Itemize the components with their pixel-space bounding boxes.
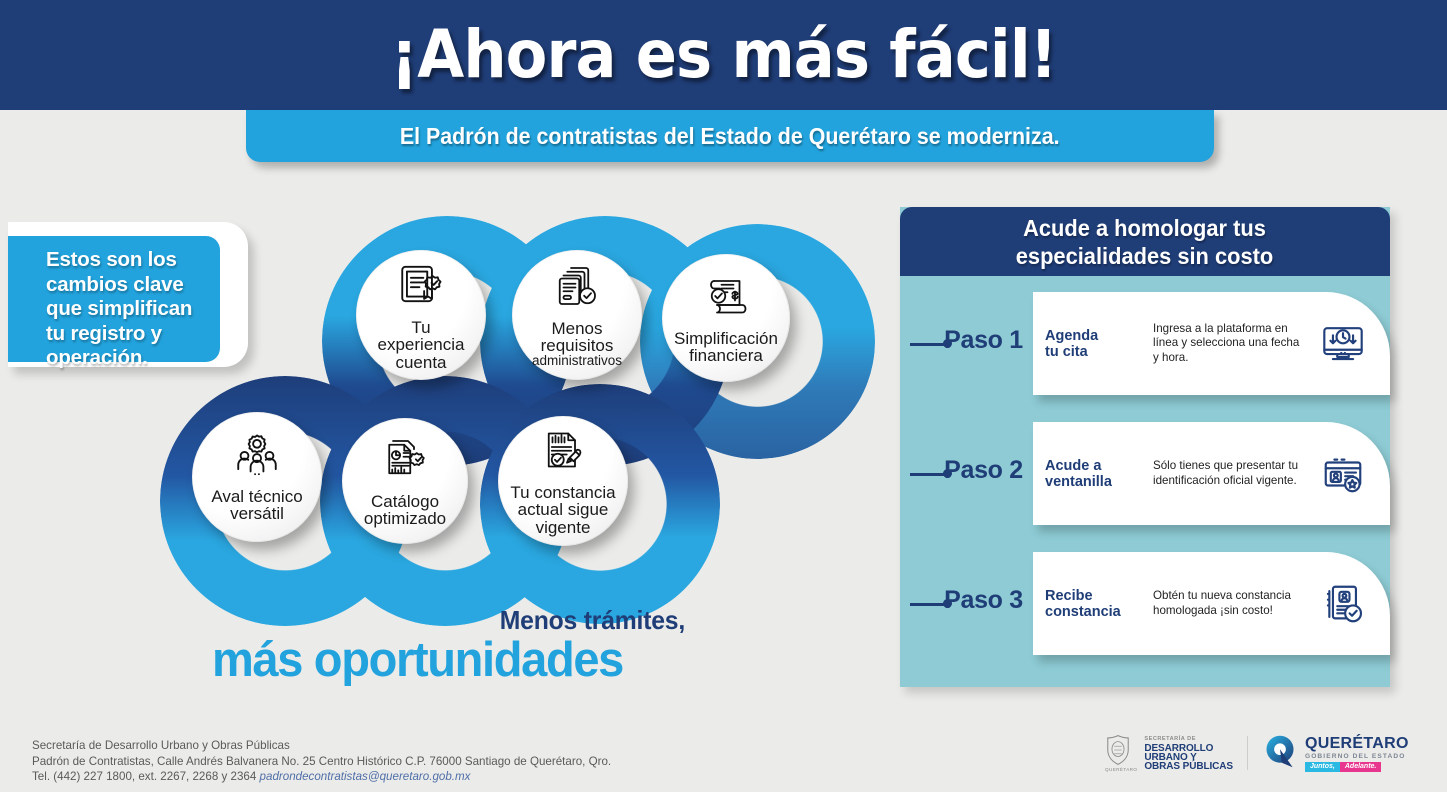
stacked-documents-check-icon [553, 262, 601, 315]
invoice-dollar-check-icon [702, 272, 750, 325]
step-card-3[interactable]: Recibe constancia Obtén tu nueva constan… [1033, 552, 1390, 655]
infographic-canvas: ¡Ahora es más fácil! El Padrón de contra… [0, 0, 1447, 792]
shield-caption: QUERÉTARO [1105, 767, 1137, 772]
benefit-label: Menos requisitos administrativos [532, 320, 622, 368]
benefit-bubble-constancia[interactable]: Tu constancia actual sigue vigente [498, 416, 628, 546]
benefit-bubble-experiencia[interactable]: Tu experiencia cuenta [356, 250, 486, 380]
benefit-bubble-catalogo[interactable]: Catálogo optimizado [342, 418, 468, 544]
queretaro-badges: Juntos, Adelante. [1305, 762, 1409, 772]
footer-contact: Secretaría de Desarrollo Urbano y Obras … [32, 738, 611, 785]
badge-adelante: Adelante. [1340, 762, 1382, 772]
sduop-wordmark: SECRETARÍA DE DESARROLLO URBANO Y OBRAS … [1144, 735, 1233, 772]
benefit-label: Tu experiencia cuenta [378, 319, 465, 371]
footer-line-3: Tel. (442) 227 1800, ext. 2267, 2268 y 2… [32, 769, 611, 785]
step-label-1: Paso 1 [936, 326, 1031, 355]
document-seal-icon [396, 259, 446, 314]
footer-logos: QUERÉTARO SECRETARÍA DE DESARROLLO URBAN… [1105, 730, 1425, 776]
benefit-label: Tu constancia actual sigue vigente [510, 484, 615, 536]
id-card-star-icon [1302, 451, 1390, 497]
queretaro-name: QUERÉTARO [1305, 735, 1409, 752]
step-row-3: Paso 3 Recibe constancia Obtén tu nueva … [900, 540, 1390, 670]
footer-line-2: Padrón de Contratistas, Calle Andrés Bal… [32, 754, 611, 770]
queretaro-sub: GOBIERNO DEL ESTADO [1305, 752, 1409, 761]
step-card-title-2: Acude a ventanilla [1033, 458, 1153, 490]
steps-panel-heading: Acude a homologar tus especialidades sin… [1016, 214, 1273, 270]
subtitle-banner: El Padrón de contratistas del Estado de … [246, 110, 1214, 162]
benefit-label: Aval técnico versátil [211, 488, 302, 523]
footer-email-link[interactable]: padrondecontratistas@queretaro.gob.mx [260, 770, 471, 783]
page-title: ¡Ahora es más fácil! [58, 12, 1389, 98]
benefit-bubble-requisitos[interactable]: Menos requisitos administrativos [512, 250, 642, 380]
monitor-clock-icon [1302, 321, 1390, 367]
benefits-cluster: Tu experiencia cuenta Meno [150, 196, 850, 606]
logo-divider [1247, 736, 1248, 770]
document-stamp-check-icon [539, 426, 587, 479]
step-card-desc-2: Sólo tienes que presentar tu identificac… [1153, 459, 1302, 488]
step-label-3: Paso 3 [936, 586, 1031, 615]
step-card-desc-1: Ingresa a la plataforma en línea y selec… [1153, 322, 1302, 366]
benefit-label: Catálogo optimizado [364, 493, 446, 528]
badge-juntos: Juntos, [1305, 762, 1340, 772]
certificate-check-icon [1302, 581, 1390, 627]
footer-line-1: Secretaría de Desarrollo Urbano y Obras … [32, 738, 611, 754]
panel-heading-line-2: especialidades sin costo [1016, 243, 1273, 269]
callout-line-4: tu registro y [46, 322, 162, 345]
step-card-desc-3: Obtén tu nueva constancia homologada ¡si… [1153, 589, 1302, 618]
tagline-line-2: más oportunidades [161, 632, 675, 688]
queretaro-wordmark: QUERÉTARO GOBIERNO DEL ESTADO Juntos, Ad… [1305, 735, 1409, 772]
subtitle-text: El Padrón de contratistas del Estado de … [400, 123, 1060, 150]
step-label-2: Paso 2 [936, 456, 1031, 485]
step-card-title-3: Recibe constancia [1033, 588, 1153, 620]
panel-heading-line-1: Acude a homologar tus [1024, 215, 1267, 241]
callout-line-5: operación. [46, 346, 148, 369]
logo-sduop: QUERÉTARO SECRETARÍA DE DESARROLLO URBAN… [1105, 734, 1233, 772]
people-gear-icon [232, 432, 282, 483]
report-seal-icon [381, 435, 429, 488]
benefit-bubble-financiera[interactable]: Simplificación financiera [662, 254, 790, 382]
logo-queretaro: QUERÉTARO GOBIERNO DEL ESTADO Juntos, Ad… [1262, 733, 1409, 774]
step-card-title-1: Agenda tu cita [1033, 328, 1153, 360]
footer-phone: Tel. (442) 227 1800, ext. 2267, 2268 y 2… [32, 770, 260, 783]
steps-panel: Acude a homologar tus especialidades sin… [900, 207, 1390, 687]
step-card-1[interactable]: Agenda tu cita Ingresa a la plataforma e… [1033, 292, 1390, 395]
step-card-2[interactable]: Acude a ventanilla Sólo tienes que prese… [1033, 422, 1390, 525]
step-row-2: Paso 2 Acude a ventanilla Sólo tienes qu… [900, 410, 1390, 540]
step-row-1: Paso 1 Agenda tu cita Ingresa a la plata… [900, 280, 1390, 410]
benefit-bubble-aval[interactable]: Aval técnico versátil [192, 412, 322, 542]
sduop-line-3: OBRAS PÚBLICAS [1144, 762, 1233, 771]
queretaro-q-icon [1262, 733, 1298, 774]
queretaro-shield-icon: QUERÉTARO [1105, 734, 1137, 772]
benefit-label: Simplificación financiera [674, 330, 778, 365]
steps-panel-header: Acude a homologar tus especialidades sin… [900, 207, 1390, 276]
